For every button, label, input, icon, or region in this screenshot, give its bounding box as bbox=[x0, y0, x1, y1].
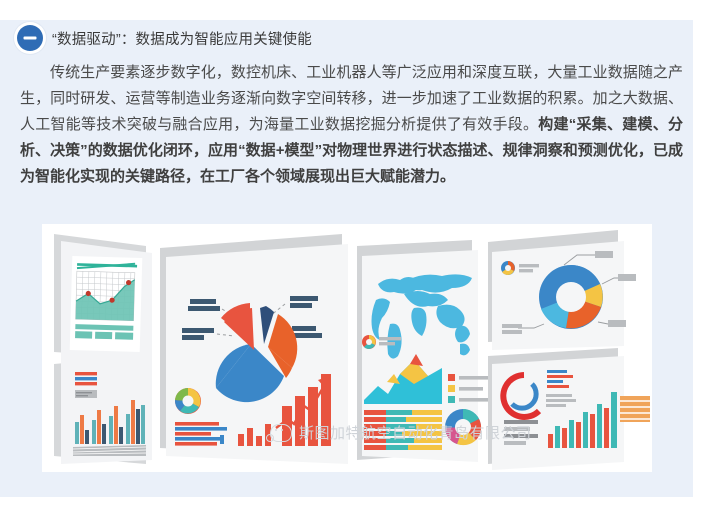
panel-ring-bars bbox=[488, 348, 650, 470]
section-header: “数据驱动”：数据成为智能应用关键使能 bbox=[0, 20, 693, 56]
body-paragraph: 传统生产要素逐步数字化，数控机床、工业机器人等广泛应用和深度互联，大量工业数据随… bbox=[20, 60, 683, 190]
panel-bar-chart bbox=[54, 352, 152, 464]
figure-card: 斯图加特航空自动化青岛有限公司 bbox=[42, 224, 652, 472]
panel-pie-chart bbox=[160, 234, 348, 464]
page-title: “数据驱动”：数据成为智能应用关键使能 bbox=[52, 28, 312, 49]
page-root: “数据驱动”：数据成为智能应用关键使能 传统生产要素逐步数字化，数控机床、工业机… bbox=[0, 0, 707, 518]
panel-world-map bbox=[357, 240, 493, 462]
panel-area-chart bbox=[54, 234, 152, 364]
panel-donut-chart bbox=[488, 230, 636, 350]
infographic-illustration bbox=[42, 224, 652, 472]
minus-circle-icon[interactable] bbox=[17, 25, 43, 51]
